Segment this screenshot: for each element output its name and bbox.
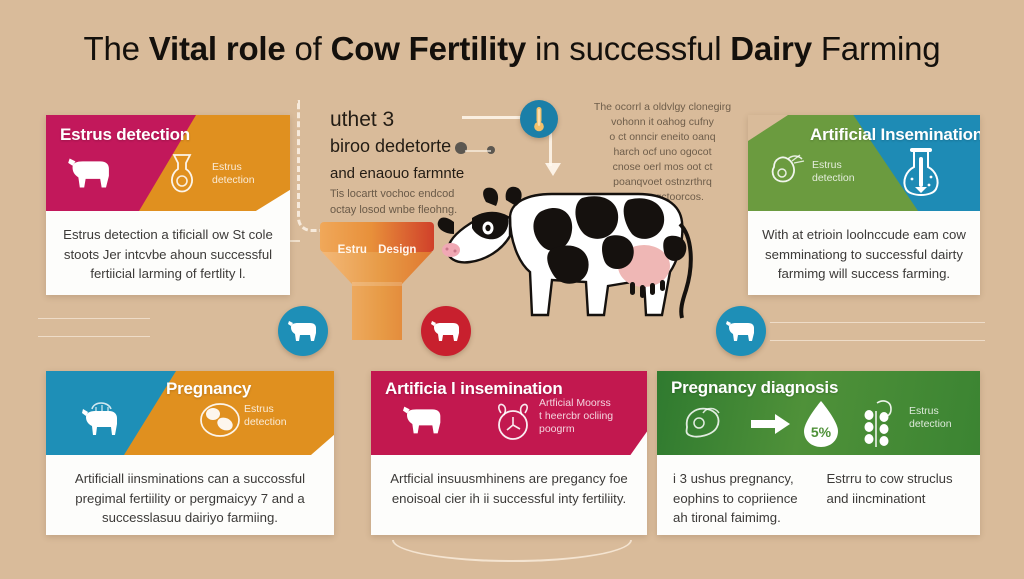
cow-icon	[726, 320, 756, 342]
card-mini-label: Estrus detection	[212, 161, 255, 187]
center-heading-line1: uthet 3	[330, 106, 510, 133]
divider-left-upper	[38, 318, 150, 319]
card-pregnancy[interactable]: Pregnancy Estrus detection Artificiall i…	[46, 371, 334, 535]
card-body-text: Estrus detection a tificiall ow St cole …	[46, 211, 290, 295]
card-body: i 3 ushus pregnancy, eophins to copriien…	[657, 455, 980, 535]
page-title: The Vital role of Cow Fertility in succe…	[0, 28, 1024, 70]
semen-collection-icon	[162, 151, 202, 195]
cow-badge-blue-left[interactable]	[278, 306, 328, 356]
holstein-cow-illustration	[432, 140, 700, 330]
card-mini-label: Estrus detection	[909, 405, 952, 431]
card-header: Artificial Insemination Estrus detection	[748, 115, 980, 211]
card-header: Pregnancy Estrus detection	[46, 371, 334, 455]
card-body-text: With at etrioin loolnccude eam cow semmi…	[748, 211, 980, 295]
card-body-text: Artificiall iinsminations can a succossf…	[46, 455, 334, 535]
title-part-4: in successful	[535, 30, 730, 67]
title-part-2: of	[295, 30, 331, 67]
card-pregnancy-diagnosis[interactable]: Pregnancy diagnosis 5%	[657, 371, 980, 535]
card-header: Pregnancy diagnosis 5%	[657, 371, 980, 455]
card-body-text: Artficial insuusmhinens are pregancy foe…	[371, 455, 647, 524]
cow-icon	[68, 157, 112, 189]
ovary-icon	[857, 397, 897, 451]
droplet-icon: 5%	[800, 399, 842, 449]
card-title: Pregnancy diagnosis	[671, 378, 838, 398]
card-artificial-insemination-bottom[interactable]: Artificia l insemination Artficial Moors…	[371, 371, 647, 535]
funnel-icon	[318, 222, 436, 342]
infographic-canvas: The Vital role of Cow Fertility in succe…	[0, 0, 1024, 579]
bottom-decorative-curve	[392, 540, 632, 562]
card-mini-label: Estrus detection	[812, 159, 855, 185]
cow-badge-blue-right[interactable]	[716, 306, 766, 356]
card-mini-label: Artficial Moorss t heercbr ocliing poogr…	[539, 397, 613, 436]
thermometer-badge[interactable]	[520, 100, 558, 138]
cow-icon	[431, 320, 461, 342]
card-title: Pregnancy	[166, 379, 251, 399]
funnel-graphic: Estru Design	[318, 222, 436, 342]
cow-icon	[288, 320, 318, 342]
arrow-right-icon	[751, 413, 791, 435]
uterus-icon	[766, 153, 808, 193]
cow-icon	[403, 405, 443, 435]
card-body-text-col1: i 3 ushus pregnancy, eophins to copriien…	[673, 469, 811, 528]
flask-icon	[900, 147, 942, 199]
card-title: Artificial Insemination	[810, 125, 980, 145]
card-header: Estrus detection Estrus detection	[46, 115, 290, 211]
svg-text:5%: 5%	[811, 424, 832, 440]
cow-badge-red[interactable]	[421, 306, 471, 356]
embryo-icon	[198, 399, 242, 441]
divider-left-lower	[38, 336, 150, 337]
card-title: Artificia l insemination	[385, 379, 563, 399]
card-artificial-insemination-top[interactable]: Artificial Insemination Estrus detection…	[748, 115, 980, 295]
card-title: Estrus detection	[60, 125, 190, 145]
title-part-6: Farming	[821, 30, 941, 67]
embryo-icon	[677, 401, 729, 447]
title-part-3: Cow Fertility	[331, 30, 535, 67]
divider-right-upper	[770, 322, 985, 323]
funnel-label-left: Estru	[338, 244, 367, 256]
funnel-labels: Estru Design	[318, 244, 436, 256]
title-part-1: Vital role	[149, 30, 295, 67]
cycle-clock-icon	[491, 399, 535, 443]
divider-right-lower	[770, 340, 985, 341]
card-mini-label: Estrus detection	[244, 403, 287, 429]
title-part-5: Dairy	[730, 30, 821, 67]
title-part-0: The	[84, 30, 149, 67]
funnel-label-right: Design	[378, 244, 416, 256]
pregnant-cow-icon	[78, 399, 122, 441]
thermometer-icon	[531, 106, 547, 132]
card-body-text-col2: Estrru to cow struclus and iincminationt	[827, 469, 965, 528]
dashed-connector-left	[297, 100, 327, 232]
card-header: Artificia l insemination Artficial Moors…	[371, 371, 647, 455]
card-estrus-detection[interactable]: Estrus detection Estrus detection Estrus…	[46, 115, 290, 295]
